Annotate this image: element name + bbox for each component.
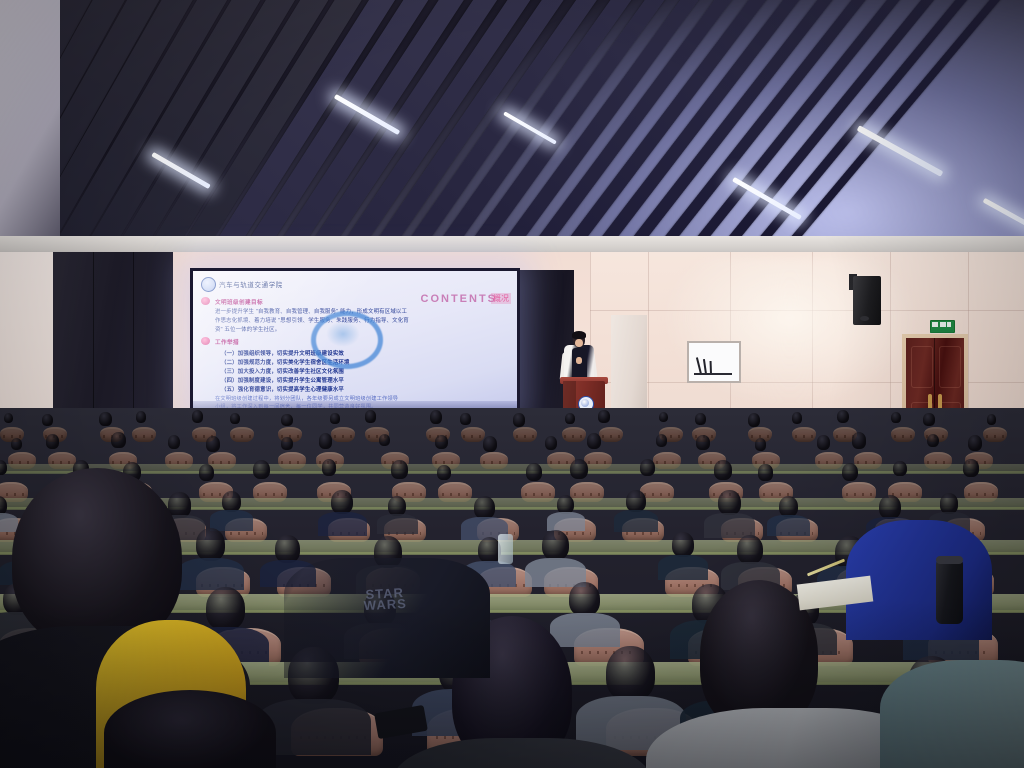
- artwork-base: [694, 373, 732, 375]
- student-head: [852, 432, 867, 448]
- speaker-cone: [860, 316, 869, 321]
- seat-perforation: [0, 493, 24, 496]
- door-panel: [939, 346, 961, 388]
- student-head: [206, 587, 245, 630]
- seat-perforation: [135, 435, 154, 438]
- teal-shirt: [880, 660, 1024, 768]
- student-head: [322, 459, 336, 475]
- student-shoulders: [547, 512, 586, 531]
- student-shoulders: [178, 558, 244, 590]
- lecture-hall-photo: 汽车与轨道交通学院 文明班级创建目标 进一步提升学生 "自我教育、自我管理、自我…: [0, 0, 1024, 768]
- seat-perforation: [626, 532, 659, 535]
- seat-perforation: [968, 493, 995, 496]
- thermos-bottle: [936, 560, 963, 624]
- seat-perforation: [986, 435, 1005, 438]
- student-head: [606, 646, 655, 701]
- student-head: [196, 528, 225, 561]
- student-head: [46, 434, 59, 449]
- seat-perforation: [257, 493, 284, 496]
- star-wars-jacket: [284, 558, 490, 678]
- student-shoulders: [318, 512, 367, 536]
- speaker-hair: [572, 331, 586, 339]
- student-head: [755, 438, 766, 451]
- student-head: [99, 412, 111, 426]
- projection-screen: 汽车与轨道交通学院 文明班级创建目标 进一步提升学生 "自我教育、自我管理、自我…: [190, 268, 520, 416]
- baffle-ceiling: [0, 0, 1024, 262]
- artwork-stroke: [703, 359, 707, 374]
- student-shoulders: [767, 515, 810, 536]
- student-head: [437, 465, 451, 480]
- seat-perforation: [795, 435, 814, 438]
- student-head: [565, 413, 575, 424]
- student-head: [963, 459, 979, 477]
- student-head: [837, 410, 849, 423]
- student-head: [987, 414, 996, 425]
- seat-perforation: [516, 435, 535, 438]
- seat-perforation: [564, 435, 583, 438]
- seat-perforation: [463, 435, 482, 438]
- student-head: [460, 413, 470, 425]
- student-head: [222, 491, 241, 512]
- student-head: [111, 432, 126, 448]
- seat-perforation: [846, 493, 873, 496]
- seat-perforation: [602, 435, 621, 438]
- student-shoulders: [658, 555, 708, 580]
- student-head: [557, 495, 574, 514]
- seat-perforation: [574, 493, 601, 496]
- student-head: [542, 530, 569, 560]
- student-head: [640, 459, 655, 476]
- ceiling-soffit-left: [0, 0, 60, 240]
- seat-perforation: [233, 435, 252, 438]
- student-head: [136, 411, 146, 423]
- student-head: [365, 410, 376, 422]
- student-head: [737, 535, 763, 564]
- student-head: [758, 464, 772, 480]
- student-head: [748, 413, 760, 427]
- student-head: [379, 434, 390, 447]
- student-head: [842, 463, 859, 482]
- student-head: [940, 493, 958, 513]
- exit-sign-subtext: [930, 330, 953, 333]
- student-head: [435, 435, 448, 450]
- student-head: [230, 413, 240, 424]
- student-head-foreground: [104, 690, 276, 768]
- seat-perforation: [3, 435, 22, 438]
- exit-sign-glyph-icon: [932, 322, 951, 327]
- student-head: [626, 490, 646, 512]
- artwork-stroke: [696, 357, 702, 374]
- student-head: [275, 535, 300, 563]
- student-head: [714, 460, 731, 479]
- student-head: [319, 433, 333, 448]
- student-head: [696, 435, 710, 450]
- student-head: [656, 434, 668, 447]
- student-head: [569, 582, 600, 616]
- student-head: [587, 433, 601, 449]
- student-head: [513, 413, 525, 426]
- student-head: [206, 436, 220, 452]
- student-head: [281, 414, 292, 427]
- student-shoulders: [550, 613, 619, 647]
- student-head: [672, 532, 694, 557]
- door-panel: [911, 346, 933, 388]
- student-head: [391, 460, 408, 479]
- wall-highlight: [660, 258, 920, 408]
- water-bottle: [498, 534, 513, 564]
- student-shoulders: [210, 510, 253, 531]
- seat-perforation: [230, 532, 263, 535]
- screen-sheen: [193, 271, 517, 413]
- student-head: [331, 490, 353, 514]
- microphone-hand: [576, 357, 582, 364]
- student-head: [253, 460, 270, 479]
- student-head: [281, 437, 293, 450]
- thermos-cap: [936, 556, 963, 564]
- student-head: [168, 492, 191, 517]
- student-shoulders: [614, 510, 659, 532]
- seat-perforation: [334, 435, 353, 438]
- student-head: [927, 434, 939, 448]
- student-shoulders: [377, 514, 418, 534]
- seat-perforation: [644, 493, 671, 496]
- student-head: [695, 413, 706, 425]
- student-head: [893, 461, 907, 476]
- projected-slide: 汽车与轨道交通学院 文明班级创建目标 进一步提升学生 "自我教育、自我管理、自我…: [193, 271, 517, 413]
- student-head: [817, 435, 830, 450]
- student-head: [11, 438, 22, 451]
- student-head: [718, 490, 741, 515]
- student-head: [968, 435, 982, 451]
- student-head: [779, 496, 798, 517]
- speaker-face: [575, 339, 583, 347]
- seat-perforation: [894, 435, 913, 438]
- student-head: [42, 414, 53, 426]
- student-head: [192, 410, 204, 423]
- desk-edge: [0, 471, 1024, 474]
- student-head: [891, 412, 901, 423]
- student-head: [199, 464, 214, 481]
- student-head: [659, 412, 668, 423]
- school-crest-inner: [581, 399, 589, 407]
- student-head: [879, 495, 901, 519]
- student-head: [570, 459, 588, 479]
- student-head: [474, 496, 495, 519]
- student-head: [330, 413, 339, 424]
- seat-perforation: [442, 493, 469, 496]
- student-head: [923, 413, 934, 426]
- student-head: [526, 463, 542, 481]
- seat-perforation: [525, 493, 552, 496]
- student-head: [4, 413, 13, 424]
- student-head: [430, 410, 442, 424]
- student-head: [483, 436, 498, 452]
- student-head: [168, 435, 180, 449]
- student-head: [545, 436, 557, 450]
- student-head: [598, 410, 609, 423]
- student-head: [388, 496, 406, 516]
- student-head: [792, 412, 802, 424]
